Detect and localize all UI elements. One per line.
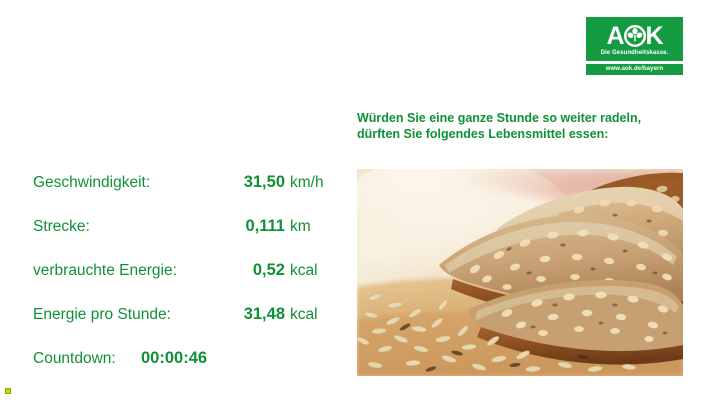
headline-line-1: Würden Sie eine ganze Stunde so weiter r…	[357, 110, 687, 126]
metric-label-energy-per-hour: Energie pro Stunde:	[33, 305, 211, 325]
aok-wordmark: A K	[606, 24, 662, 49]
aok-letter-k: K	[646, 24, 663, 49]
metric-value-countdown: 00:00:46	[141, 348, 285, 368]
metric-label-countdown: Countdown:	[33, 349, 141, 369]
aok-url-text: www.aok.de/bayern	[606, 66, 664, 73]
metric-row-energy-per-hour: Energie pro Stunde: 31,48 kcal	[33, 304, 333, 348]
aok-logo-box: A K Die Gesundheitskasse.	[586, 17, 683, 61]
metric-value-speed: 31,50	[211, 172, 285, 192]
aok-tagline: Die Gesundheitskasse.	[601, 50, 669, 57]
aok-letter-a: A	[606, 24, 623, 49]
metric-row-energy-used: verbrauchte Energie: 0,52 kcal	[33, 260, 333, 304]
food-photo	[357, 169, 683, 376]
metrics-readout: Geschwindigkeit: 31,50 km/h Strecke: 0,1…	[33, 172, 333, 392]
metric-row-speed: Geschwindigkeit: 31,50 km/h	[33, 172, 333, 216]
metric-label-speed: Geschwindigkeit:	[33, 173, 211, 193]
metric-unit-distance: km	[285, 217, 311, 237]
aok-logo: A K Die Gesundheitskasse.	[586, 17, 683, 75]
headline-line-2: dürften Sie folgendes Lebensmittel essen…	[357, 126, 687, 142]
metric-unit-speed: km/h	[285, 173, 324, 193]
clover-icon	[624, 25, 646, 47]
corner-marker	[5, 388, 11, 394]
metric-unit-energy-per-hour: kcal	[285, 305, 318, 325]
slide-canvas: A K Die Gesundheitskasse.	[0, 0, 711, 400]
aok-url-bar: www.aok.de/bayern	[586, 64, 683, 75]
metric-value-energy-per-hour: 31,48	[211, 304, 285, 324]
metric-label-distance: Strecke:	[33, 217, 211, 237]
metric-label-energy-used: verbrauchte Energie:	[33, 261, 211, 281]
metric-unit-energy-used: kcal	[285, 261, 318, 281]
metric-value-energy-used: 0,52	[211, 260, 285, 280]
metric-row-distance: Strecke: 0,111 km	[33, 216, 333, 260]
metric-row-countdown: Countdown: 00:00:46	[33, 348, 333, 392]
headline: Würden Sie eine ganze Stunde so weiter r…	[357, 110, 687, 142]
metric-value-distance: 0,111	[211, 216, 285, 236]
